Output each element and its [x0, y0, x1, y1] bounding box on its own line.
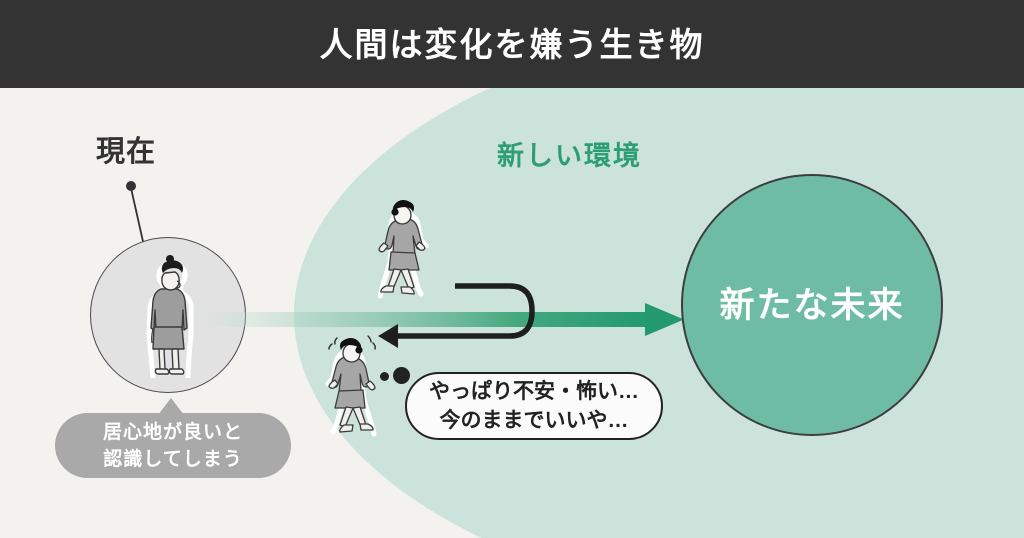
title-bar: 人間は変化を嫌う生き物: [0, 0, 1024, 88]
u-turn-left-arrow-icon: [370, 276, 550, 366]
comfort-tooltip: 居心地が良いと 認識してしまう: [55, 413, 291, 478]
speech-bubble: やっぱり不安・怖い… 今のままでいいや…: [405, 372, 663, 440]
slide-canvas: 人間は変化を嫌う生き物 現在: [0, 0, 1024, 538]
future-circle: 新たな未来: [681, 174, 943, 436]
speech-bubble-line-2: 今のままでいいや…: [440, 406, 629, 435]
comfort-tooltip-line-1: 居心地が良いと: [103, 419, 243, 446]
comfort-tooltip-line-2: 認識してしまう: [103, 446, 242, 473]
future-circle-label: 新たな未来: [719, 288, 904, 323]
new-environment-label: 新しい環境: [497, 143, 642, 170]
diagram-area: 現在: [0, 88, 1024, 538]
person-standing-icon: [141, 249, 201, 381]
person-walking-left-worried-icon: [318, 332, 378, 440]
current-state-label: 現在: [96, 138, 156, 167]
thought-dots-icon-large: [393, 367, 410, 384]
thought-dots-icon-small: [380, 372, 389, 381]
page-title: 人間は変化を嫌う生き物: [320, 28, 705, 61]
speech-bubble-line-1: やっぱり不安・怖い…: [429, 377, 639, 406]
